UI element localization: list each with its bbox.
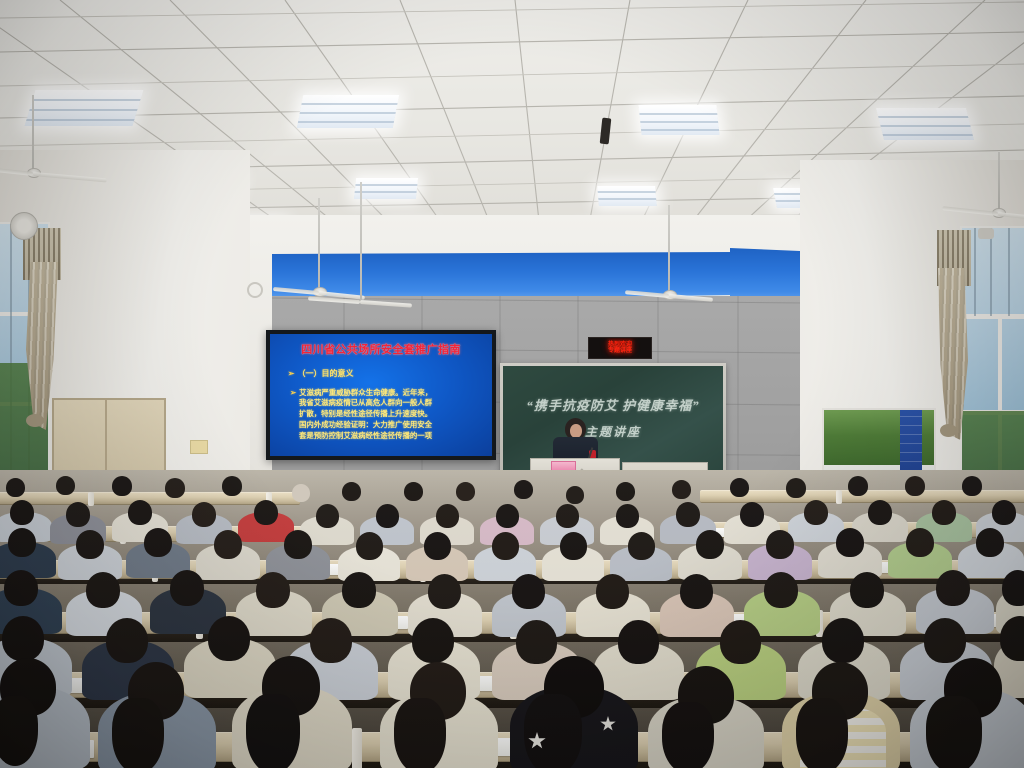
- slide-body-line: ➢艾滋病严重威胁群众生命健康。近年来，: [290, 388, 483, 399]
- slide-body-line: 扩散，特别是经性途径传播上升速度快。: [290, 409, 483, 420]
- person-head: [106, 618, 148, 663]
- person-head: [1002, 570, 1024, 606]
- person-head: [616, 482, 635, 501]
- person-head: [404, 482, 423, 501]
- person-head: [696, 530, 724, 559]
- person-head: [676, 502, 700, 527]
- person-head: [616, 504, 639, 528]
- person-head: [10, 500, 34, 525]
- person-head: [496, 504, 519, 528]
- slide-body-line: 套是预防控制艾滋病经性途径传播的一项: [290, 431, 483, 442]
- slide-body: ➢艾滋病严重威胁群众生命健康。近年来， 我省艾滋病疫情已从高危人群向一般人群 扩…: [290, 388, 483, 442]
- person-head: [192, 502, 216, 527]
- person-head: [786, 478, 806, 498]
- person-head: [936, 570, 970, 606]
- person-hair: [796, 698, 848, 768]
- ceiling-light-panel: [597, 186, 657, 206]
- person-head: [356, 532, 383, 560]
- desk-row: [0, 492, 300, 505]
- person-head: [560, 532, 587, 560]
- person-head: [566, 486, 584, 504]
- slide-body-line: 国内外成功经验证明：大力推广使用安全: [290, 420, 483, 431]
- person-head: [428, 574, 461, 609]
- person-head: [924, 618, 966, 663]
- person-head: [720, 620, 761, 664]
- person-head: [905, 476, 925, 496]
- window-security-bar: [1008, 228, 1010, 316]
- person-head: [128, 500, 152, 525]
- person-head: [730, 478, 749, 497]
- person-head: [214, 530, 242, 559]
- person-head: [618, 620, 659, 664]
- person-head: [512, 574, 545, 609]
- person-head: [112, 476, 132, 496]
- slide-body-line: 我省艾滋病疫情已从高危人群向一般人群: [290, 398, 483, 409]
- person-head: [316, 504, 339, 528]
- person-head: [628, 532, 655, 560]
- chalkboard-line-1: “携手抗疫防艾 护健康幸福”: [503, 395, 723, 414]
- bullet-marker-icon: ➢: [288, 369, 295, 378]
- slide-bullet-heading-text: （一）目的意义: [297, 369, 353, 378]
- person-head: [906, 528, 934, 557]
- person-head: [932, 500, 956, 525]
- person-head: [868, 500, 892, 525]
- person-head: [556, 504, 579, 528]
- slide-title: 四川省公共场所安全套推广指南: [279, 341, 483, 357]
- slide-bullet-heading: ➢（一）目的意义: [288, 368, 481, 380]
- person-head: [680, 574, 713, 609]
- ceiling-light-panel: [297, 95, 399, 128]
- chalkboard-line-2: 主题讲座: [503, 423, 723, 440]
- person-head: [342, 572, 376, 608]
- person-head: [342, 482, 361, 501]
- person-head: [56, 476, 75, 495]
- person-hair: [662, 702, 714, 768]
- fan-drop-rod: [318, 198, 320, 290]
- person-head: [424, 532, 451, 560]
- person-hair: [524, 694, 582, 768]
- person-head: [992, 500, 1016, 525]
- person-hair: [112, 698, 164, 768]
- person-head: [256, 572, 290, 608]
- bullet-marker-icon: ➢: [290, 388, 296, 397]
- window-mullion: [962, 314, 1024, 319]
- desk-divider: [352, 728, 362, 768]
- projector-screen-surface: 四川省公共场所安全套推广指南 ➢（一）目的意义 ➢艾滋病严重威胁群众生命健康。近…: [270, 334, 492, 456]
- person-head: [672, 480, 691, 499]
- ceiling-light-panel: [638, 105, 719, 135]
- wall-notice-card: [190, 440, 208, 454]
- window-security-bar: [990, 228, 992, 316]
- person-head: [254, 500, 278, 525]
- person-head: [4, 570, 38, 606]
- person-head: [2, 616, 44, 661]
- person-hair: [394, 698, 446, 768]
- led-marquee-text: 热烈欢迎 专题讲座: [608, 342, 632, 355]
- ceiling-light-panel: [24, 90, 143, 126]
- fan-drop-rod: [32, 95, 34, 171]
- fan-drop-rod: [998, 152, 1000, 212]
- fan-drop-rod: [360, 182, 362, 302]
- person-head: [376, 504, 399, 528]
- person-head: [514, 480, 533, 499]
- fan-drop-rod: [668, 205, 670, 293]
- person-head: [822, 618, 864, 663]
- person-head: [976, 528, 1004, 557]
- led-marquee-sign: 热烈欢迎 专题讲座: [588, 337, 652, 359]
- desk-divider: [88, 492, 94, 506]
- person-head: [222, 476, 242, 496]
- person-head: [76, 530, 104, 559]
- right-wall-speaker: [978, 228, 994, 239]
- person-head: [456, 482, 475, 501]
- left-wall-fan: [10, 212, 38, 240]
- person-head: [848, 476, 868, 496]
- wall-hook: [247, 282, 263, 298]
- ceiling-light-panel: [354, 178, 418, 199]
- slide-body-line-text: 艾滋病严重威胁群众生命健康。近年来，: [299, 388, 432, 397]
- person-head: [412, 618, 454, 663]
- person-head: [144, 528, 172, 557]
- left-curtain-tieback: [26, 414, 44, 427]
- person-head: [766, 530, 794, 559]
- ceiling-light-panel: [876, 108, 974, 140]
- person-head: [165, 478, 185, 498]
- person-head: [436, 504, 459, 528]
- person-head: [962, 476, 982, 496]
- person-head: [764, 572, 798, 608]
- person-head: [6, 478, 25, 497]
- person-head: [66, 502, 90, 527]
- person-head: [836, 528, 864, 557]
- person-head: [850, 572, 884, 608]
- person-head: [516, 620, 557, 664]
- lecture-hall-photo: 四川省公共场所安全套推广指南 ➢（一）目的意义 ➢艾滋病严重威胁群众生命健康。近…: [0, 0, 1024, 768]
- right-curtain-tieback: [940, 424, 957, 437]
- desk-divider: [836, 490, 842, 504]
- person-head: [596, 574, 629, 609]
- speaker-face: [570, 424, 582, 438]
- person-head: [284, 530, 312, 559]
- person-head: [292, 484, 310, 502]
- person-head: [86, 572, 120, 608]
- person-head: [310, 618, 352, 663]
- audience: [0, 470, 1024, 768]
- person-head: [208, 616, 250, 661]
- person-hair: [926, 696, 982, 768]
- person-head: [8, 528, 36, 557]
- projector-screen[interactable]: 四川省公共场所安全套推广指南 ➢（一）目的意义 ➢艾滋病严重威胁群众生命健康。近…: [266, 330, 496, 460]
- person-head: [740, 502, 764, 527]
- person-hair: [246, 694, 300, 768]
- person-head: [170, 570, 204, 606]
- window-security-bar: [974, 228, 976, 316]
- person-head: [804, 500, 828, 525]
- person-head: [492, 532, 519, 560]
